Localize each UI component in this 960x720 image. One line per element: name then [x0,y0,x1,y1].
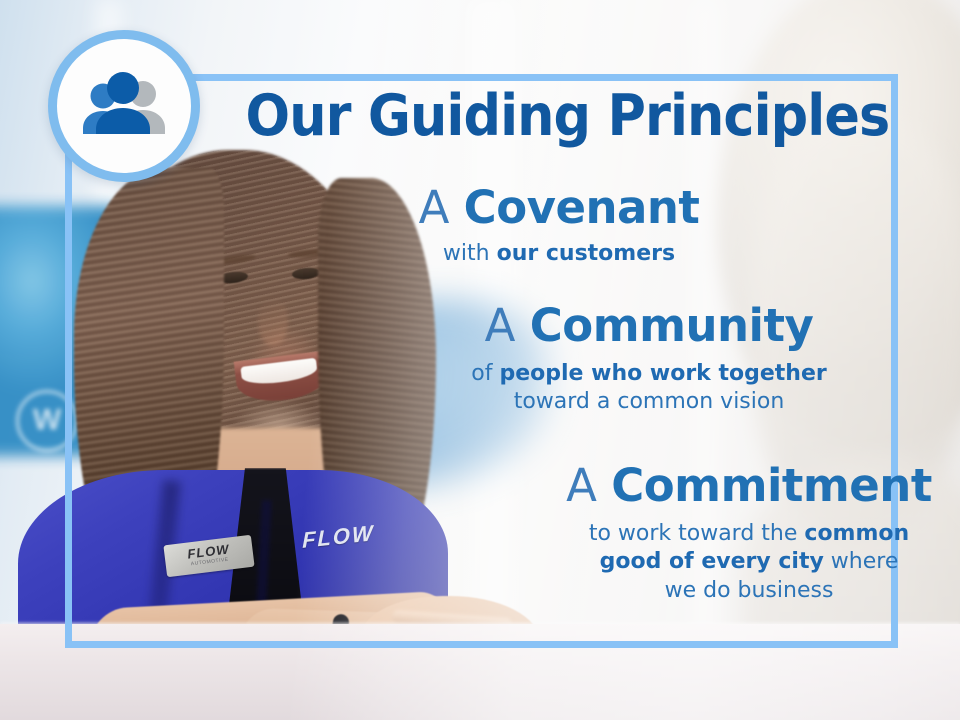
people-badge [48,30,200,182]
desk-surface [0,624,960,720]
teeth [240,358,318,387]
nose [258,300,288,346]
poster-canvas: FLOW AUTOMOTIVE FLOW [0,0,960,720]
group-of-people-icon [76,70,172,142]
window-mullion [690,0,720,720]
